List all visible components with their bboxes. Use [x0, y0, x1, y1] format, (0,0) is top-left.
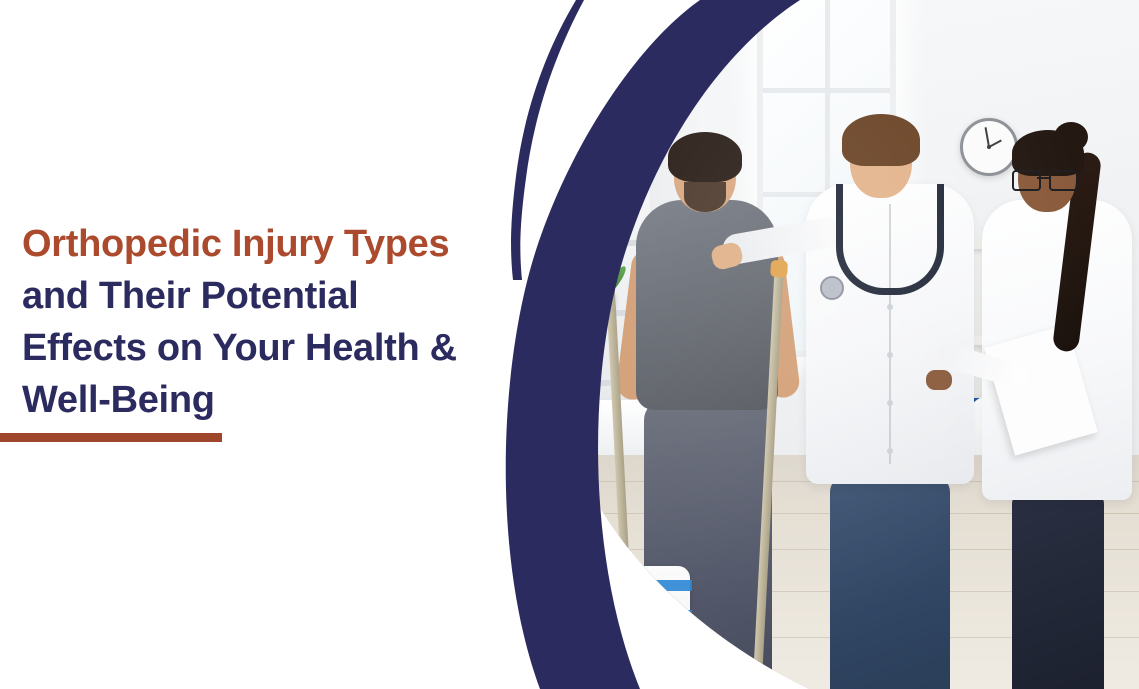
bed-leg-left [570, 488, 576, 524]
patient-beard [684, 182, 726, 212]
blue-ankle-brace [628, 566, 690, 689]
patient-hair [668, 132, 742, 182]
nurse-trousers [1012, 490, 1104, 689]
clinic-photo [520, 0, 1139, 689]
blue-binder-2 [558, 316, 578, 378]
orthopedic-injury-banner: Orthopedic Injury Types and Their Potent… [0, 0, 1139, 689]
headline-line-2: and Their Potential [22, 270, 482, 322]
stethoscope-bell-icon [820, 276, 844, 300]
page-title: Orthopedic Injury Types and Their Potent… [22, 218, 482, 426]
headline-line-3: Effects on Your Health & [22, 322, 482, 374]
accent-rule [0, 433, 222, 442]
window-mullion-horizontal [763, 88, 890, 93]
doctor-hair [842, 114, 920, 166]
headline-line-4: Well-Being [22, 374, 482, 426]
stethoscope-icon [836, 184, 944, 295]
nurse [972, 128, 1139, 689]
patient-jeans [644, 400, 772, 689]
blue-binder-1 [536, 316, 556, 378]
nurse-hand [926, 370, 952, 390]
nurse-hair-bun [1054, 122, 1088, 152]
headline-block: Orthopedic Injury Types and Their Potent… [22, 218, 482, 426]
glasses-icon [1012, 170, 1076, 187]
patient-with-crutches [608, 138, 808, 689]
headline-line-1: Orthopedic Injury Types [22, 218, 482, 270]
doctor [798, 118, 988, 689]
patient-bare-foot [638, 684, 694, 689]
patient-shoe [700, 678, 774, 689]
doctor-jeans [830, 476, 950, 689]
